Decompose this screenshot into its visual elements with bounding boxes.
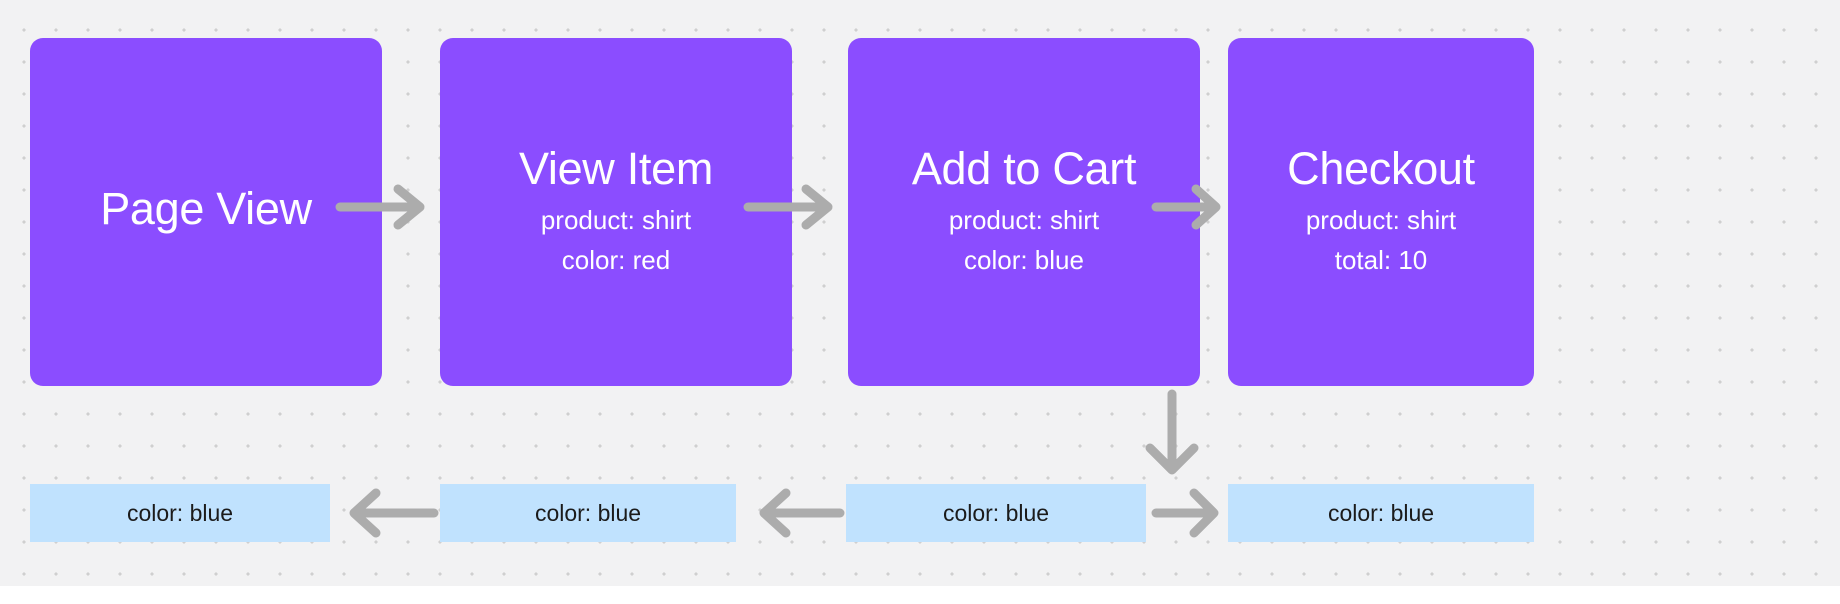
canvas-bottom-strip bbox=[0, 586, 1840, 604]
property-node-label: color: blue bbox=[1328, 500, 1434, 527]
property-node-prop-view-item[interactable]: color: blue bbox=[440, 484, 736, 542]
event-node-property: product: shirt bbox=[541, 200, 691, 240]
connector-prop-add-to-cart-to-prop-checkout bbox=[1152, 483, 1232, 543]
property-node-prop-page-view[interactable]: color: blue bbox=[30, 484, 330, 542]
event-node-properties: product: shirt total: 10 bbox=[1306, 200, 1456, 281]
property-node-label: color: blue bbox=[535, 500, 641, 527]
event-node-title: Page View bbox=[100, 184, 312, 234]
property-node-label: color: blue bbox=[943, 500, 1049, 527]
connector-prop-view-item-to-prop-page-view bbox=[334, 483, 440, 543]
event-node-checkout[interactable]: Checkout product: shirt total: 10 bbox=[1228, 38, 1534, 386]
event-node-add-to-cart[interactable]: Add to Cart product: shirt color: blue bbox=[848, 38, 1200, 386]
event-node-property: product: shirt bbox=[949, 200, 1099, 240]
flow-diagram-canvas[interactable]: Page View View Item product: shirt color… bbox=[0, 0, 1840, 604]
event-node-title: View Item bbox=[519, 144, 713, 194]
property-node-prop-checkout[interactable]: color: blue bbox=[1228, 484, 1534, 542]
event-node-view-item[interactable]: View Item product: shirt color: red bbox=[440, 38, 792, 386]
property-node-label: color: blue bbox=[127, 500, 233, 527]
event-node-title: Add to Cart bbox=[912, 144, 1136, 194]
property-node-prop-add-to-cart[interactable]: color: blue bbox=[846, 484, 1146, 542]
event-node-properties: product: shirt color: blue bbox=[949, 200, 1099, 281]
event-node-property: color: blue bbox=[964, 240, 1084, 280]
event-node-page-view[interactable]: Page View bbox=[30, 38, 382, 386]
event-node-title: Checkout bbox=[1287, 144, 1475, 194]
connector-add-to-cart-to-prop-add-to-cart bbox=[1140, 388, 1204, 482]
event-node-property: product: shirt bbox=[1306, 200, 1456, 240]
event-node-property: total: 10 bbox=[1335, 240, 1428, 280]
connector-page-view-to-view-item bbox=[336, 183, 436, 231]
connector-add-to-cart-to-checkout bbox=[1152, 183, 1232, 231]
event-node-property: color: red bbox=[562, 240, 670, 280]
connector-prop-add-to-cart-to-prop-view-item bbox=[744, 483, 844, 543]
event-node-properties: product: shirt color: red bbox=[541, 200, 691, 281]
connector-view-item-to-add-to-cart bbox=[744, 183, 844, 231]
